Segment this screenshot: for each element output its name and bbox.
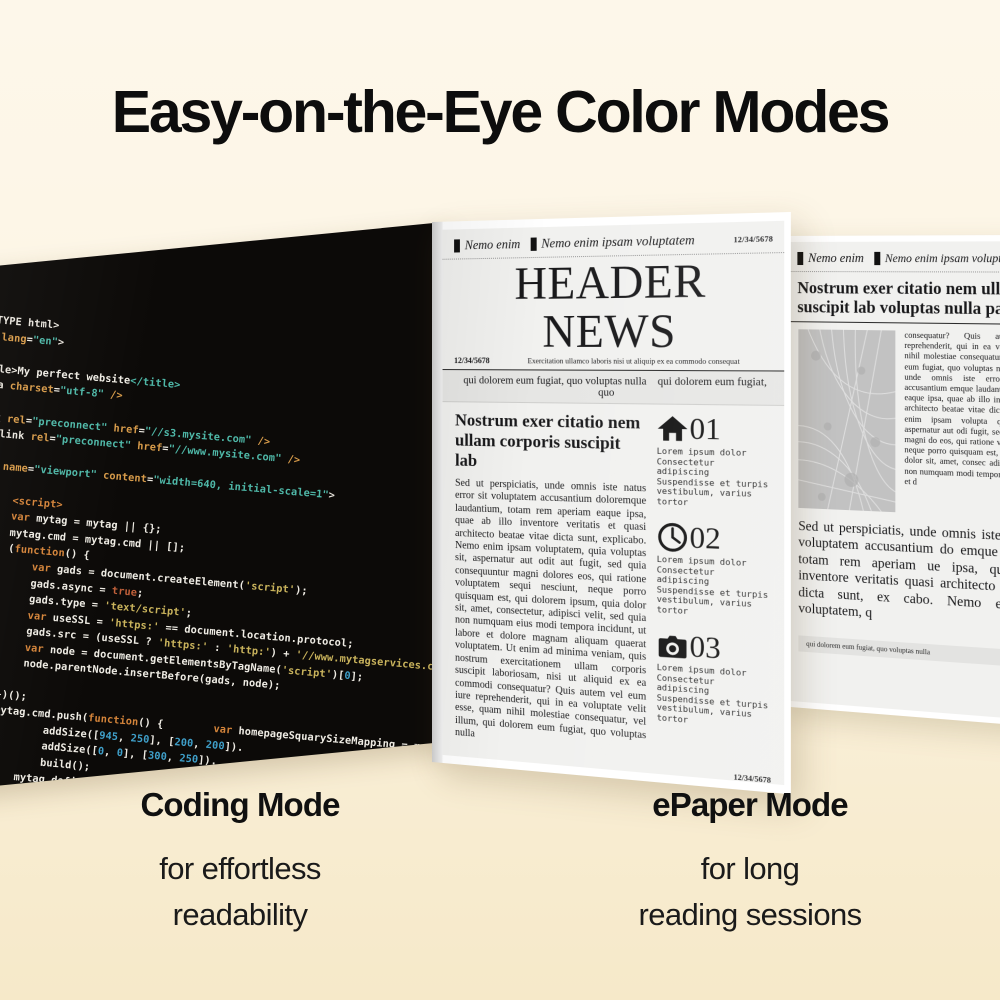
caption-title-left: Coding Mode	[40, 786, 440, 824]
device-bezel	[432, 222, 443, 763]
top-strap-bar: qui dolorem eum fugiat, quo voluptas nul…	[443, 370, 785, 406]
feature-item-03: 03 Lorem ipsum dolor Consectetur adipisc…	[657, 629, 773, 731]
feature-header: 02	[657, 521, 773, 557]
article-wide-body-back: Sed ut perspiciatis, unde omnis iste na …	[786, 511, 1000, 636]
kicker-1: Nemo enim	[454, 237, 520, 254]
masthead-subbar: 12/34/5678 Exercitation ullamco laboris …	[443, 356, 785, 372]
caption-title-right: ePaper Mode	[540, 786, 960, 824]
caption-left-line-1: for effortless	[40, 846, 440, 892]
feature-number: 03	[690, 631, 721, 664]
caption-epaper-mode: ePaper Mode for long reading sessions	[540, 786, 960, 938]
caption-left-line-2: readability	[40, 892, 440, 938]
article-image-back	[798, 329, 895, 512]
feature-text: Lorem ipsum dolor Consectetur adipiscing…	[657, 663, 773, 732]
article-headline-front: Nostrum exer citatio nem ullam corporis …	[455, 410, 646, 475]
code-editor-content: <!DOCTYPE html> <html lang="en"> <head> …	[0, 286, 444, 791]
caption-subtitle-right: for long reading sessions	[540, 846, 960, 938]
square-bullet-icon	[530, 237, 536, 250]
caption-subtitle-left: for effortless readability	[40, 846, 440, 938]
square-bullet-icon	[874, 252, 880, 265]
device-showcase-stage: <!DOCTYPE html> <html lang="en"> <head> …	[0, 0, 1000, 780]
feature-header: 01	[657, 413, 773, 447]
kicker-2: Nemo enim ipsam voluptatem	[530, 233, 694, 252]
home-icon	[657, 413, 689, 445]
square-bullet-icon	[454, 239, 460, 252]
epaper-screen-back: Nemo enim Nemo enim ipsam voluptatem 12/…	[786, 241, 1000, 724]
masthead-strap: Exercitation ullamco laboris nisi ut ali…	[528, 356, 740, 366]
epaper-screen-front: Nemo enim Nemo enim ipsam voluptatem 12/…	[443, 221, 785, 785]
top-date-front: 12/34/5678	[734, 234, 774, 245]
caption-coding-mode: Coding Mode for effortless readability	[40, 786, 440, 938]
main-column: Nostrum exer citatio nem ullam corporis …	[455, 410, 646, 755]
newspaper-topbar-back: Nemo enim Nemo enim ipsam voluptatem 12/…	[786, 241, 1000, 273]
feature-list-column: 01 Lorem ipsum dolor Consectetur adipisc…	[657, 413, 773, 766]
article-column-back: consequatur? Quis autem vel eum reprehen…	[904, 331, 1000, 520]
caption-right-line-1: for long	[540, 846, 960, 892]
kicker-2: Nemo enim ipsam voluptatem	[874, 252, 1000, 266]
masthead-title: HEADER NEWS	[443, 253, 785, 356]
camera-icon	[657, 629, 689, 663]
caption-right-line-2: reading sessions	[540, 892, 960, 938]
article-headline-back: Nostrum exer citatio nem ullam corpo sus…	[786, 272, 1000, 325]
article-body-back: consequatur? Quis autem vel eum reprehen…	[786, 322, 1000, 525]
strap-left: qui dolorem eum fugiat, quo voluptas nul…	[463, 375, 646, 388]
square-bullet-icon	[797, 252, 803, 265]
abstract-lines-graphic	[798, 329, 895, 512]
feature-number: 01	[690, 414, 721, 445]
feature-item-02: 02 Lorem ipsum dolor Consectetur adipisc…	[657, 521, 773, 621]
newspaper-body-front: Nostrum exer citatio nem ullam corporis …	[443, 402, 785, 774]
feature-number: 02	[690, 523, 721, 555]
epaper-device-front[interactable]: Nemo enim Nemo enim ipsam voluptatem 12/…	[432, 212, 791, 794]
article-paragraph-front: Sed ut perspiciatis, unde omnis iste nat…	[455, 478, 646, 756]
epaper-device-back[interactable]: Nemo enim Nemo enim ipsam voluptatem 12/…	[778, 235, 1000, 731]
feature-item-01: 01 Lorem ipsum dolor Consectetur adipisc…	[657, 413, 773, 510]
clock-icon	[657, 521, 689, 554]
kicker-1: Nemo enim	[797, 251, 864, 266]
coding-mode-device[interactable]: <!DOCTYPE html> <html lang="en"> <head> …	[0, 222, 444, 791]
masthead-date: 12/34/5678	[454, 356, 489, 365]
feature-text: Lorem ipsum dolor Consectetur adipiscing…	[657, 447, 773, 511]
feature-text: Lorem ipsum dolor Consectetur adipiscing…	[657, 555, 773, 621]
feature-line-4: vestibulum, varius tortor	[657, 486, 773, 510]
